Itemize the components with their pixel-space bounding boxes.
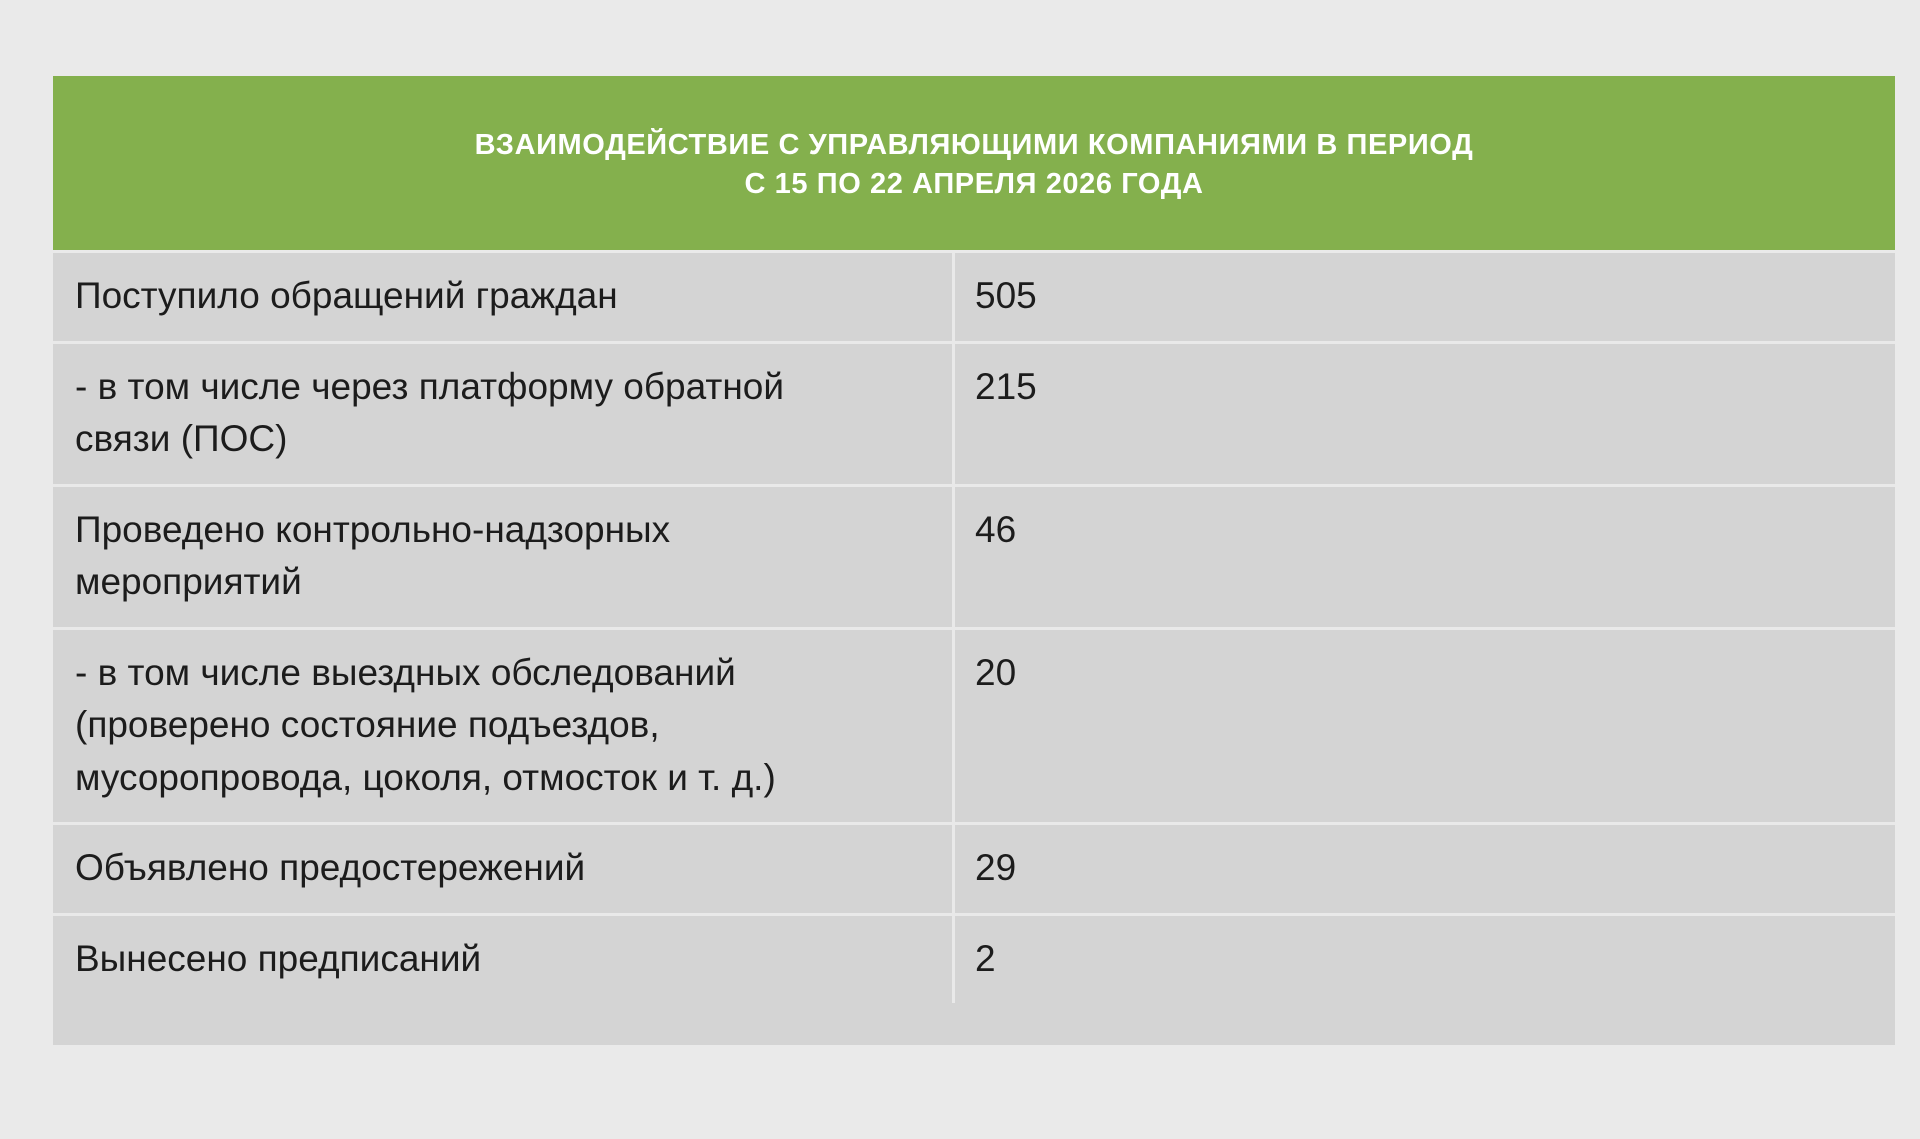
row-label: Проведено контрольно-надзорных мероприят… [53,487,955,627]
table-row: Проведено контрольно-надзорных мероприят… [53,487,1895,630]
table-body: Поступило обращений граждан 505 - в том … [53,253,1895,1045]
row-value: 215 [955,344,1895,484]
row-value: 20 [955,630,1895,823]
row-label: Объявлено предостережений [53,825,955,913]
row-label: - в том числе через платформу обратной с… [53,344,955,484]
row-label: Поступило обращений граждан [53,253,955,341]
table-title-line-1: ВЗАИМОДЕЙСТВИЕ С УПРАВЛЯЮЩИМИ КОМПАНИЯМИ… [475,126,1474,165]
table-header: ВЗАИМОДЕЙСТВИЕ С УПРАВЛЯЮЩИМИ КОМПАНИЯМИ… [53,76,1895,250]
table-row: Вынесено предписаний 2 [53,916,1895,1004]
table-row: - в том числе через платформу обратной с… [53,344,1895,487]
slide-canvas: ВЗАИМОДЕЙСТВИЕ С УПРАВЛЯЮЩИМИ КОМПАНИЯМИ… [0,0,1920,1139]
row-label: Вынесено предписаний [53,916,955,1004]
row-value: 2 [955,916,1895,1004]
row-value: 505 [955,253,1895,341]
row-value: 29 [955,825,1895,913]
table-row: Объявлено предостережений 29 [53,825,1895,916]
statistics-table: ВЗАИМОДЕЙСТВИЕ С УПРАВЛЯЮЩИМИ КОМПАНИЯМИ… [53,76,1895,1045]
row-value: 46 [955,487,1895,627]
row-label: - в том числе выездных обследований (про… [53,630,955,823]
table-title-line-2: С 15 ПО 22 АПРЕЛЯ 2026 ГОДА [744,165,1203,204]
table-row: Поступило обращений граждан 505 [53,253,1895,344]
table-row: - в том числе выездных обследований (про… [53,630,1895,826]
